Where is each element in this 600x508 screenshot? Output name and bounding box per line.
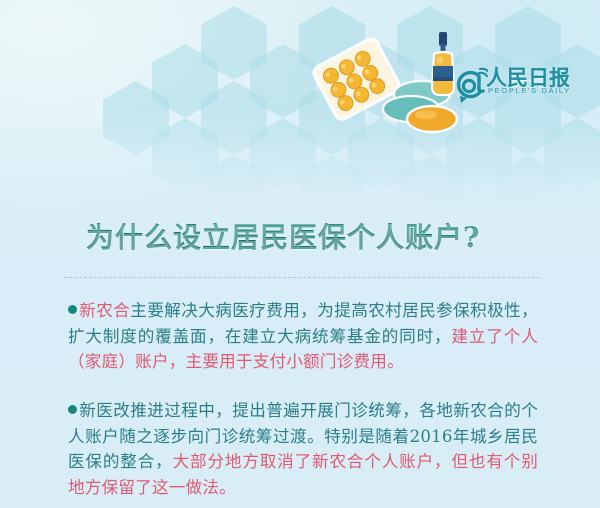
- highlight-text: 新农合: [79, 301, 130, 320]
- hexagon-tile: [446, 118, 512, 192]
- hexagon-tile: [201, 6, 267, 80]
- bullet-point-icon: [68, 405, 77, 414]
- hexagon-tile: [397, 155, 463, 201]
- hexagon-tile: [103, 81, 169, 155]
- page-title: 为什么设立居民医保个人账户?: [86, 216, 526, 256]
- bullet-point-icon: [68, 305, 77, 314]
- hexagon-tile: [348, 118, 414, 192]
- hexagon-tile: [201, 155, 267, 201]
- hexagon-tile: [250, 118, 316, 192]
- peoples-daily-logo: 人民日报 PEOPLE'S DAILY: [452, 62, 578, 110]
- hexagon-tile: [152, 118, 218, 192]
- hexagon-tile: [250, 44, 316, 118]
- hexagon-tile: [348, 44, 414, 118]
- hexagon-tile: [152, 44, 218, 118]
- content-paragraph: 新农合主要解决大病医疗费用，为提高农村居民参保积极性，扩大制度的覆盖面，在建立大…: [68, 298, 538, 375]
- hexagon-tile: [544, 118, 600, 192]
- infographic-card: 人民日报 PEOPLE'S DAILY 为什么设立居民医保个人账户? 新农合主要…: [0, 0, 600, 508]
- hexagon-tile: [299, 155, 365, 201]
- hexagon-tile: [201, 81, 267, 155]
- hexagon-tile: [495, 155, 561, 201]
- hexagon-tile: [299, 81, 365, 155]
- title-divider: [64, 277, 540, 278]
- hexagon-tile: [299, 6, 365, 80]
- logo-name-en: PEOPLE'S DAILY: [488, 86, 571, 95]
- content-paragraph: 新医改推进过程中，提出普遍开展门诊统筹，各地新农合的个人账户随之逐步向门诊统筹过…: [68, 398, 538, 500]
- at-symbol-icon: [452, 64, 488, 106]
- pill-blister-pack-icon: [302, 28, 412, 133]
